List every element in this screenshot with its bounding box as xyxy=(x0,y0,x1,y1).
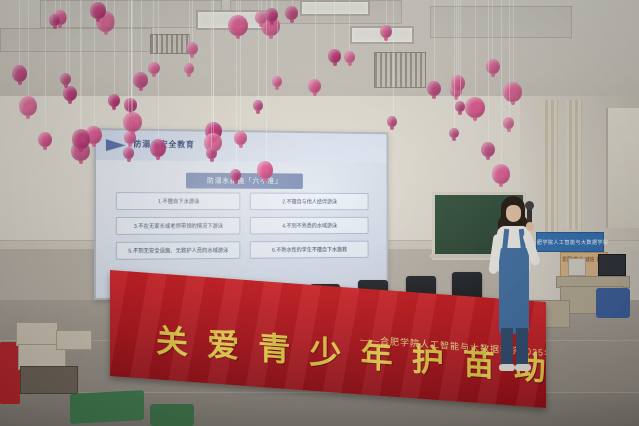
leg-left xyxy=(501,328,513,368)
balloon xyxy=(186,42,198,55)
monitor xyxy=(598,254,626,276)
balloon-string xyxy=(292,0,293,6)
balloon xyxy=(184,63,194,74)
balloon xyxy=(230,169,241,181)
balloon xyxy=(492,164,510,184)
balloon-string xyxy=(393,0,394,116)
microphone-head xyxy=(525,201,534,210)
balloon xyxy=(455,101,465,112)
balloon xyxy=(150,139,166,157)
green-chair xyxy=(70,390,144,424)
balloon-string xyxy=(69,0,70,86)
balloon xyxy=(49,14,60,26)
balloon-string xyxy=(45,0,46,132)
window xyxy=(606,108,639,228)
balloon xyxy=(328,49,341,63)
ceiling-vent xyxy=(374,52,426,88)
leg-right xyxy=(516,328,528,368)
balloon-string xyxy=(315,0,316,79)
balloon xyxy=(257,161,273,179)
balloon-string xyxy=(492,0,493,59)
balloon xyxy=(148,62,160,74)
balloon-string xyxy=(192,0,193,42)
wall-banner: 合肥学院人工智能与大数据学院 xyxy=(536,232,604,252)
slide-item: 3.不在无家长或老师带领的情况下游泳 xyxy=(116,217,241,235)
balloon xyxy=(228,15,248,36)
balloon-string xyxy=(28,0,29,96)
balloon xyxy=(38,132,52,147)
balloon-string xyxy=(141,0,142,72)
balloon-string xyxy=(55,0,56,14)
balloon xyxy=(90,2,106,19)
balloon-string xyxy=(98,0,99,2)
slide-item: 2.不擅自与他人结伴游泳 xyxy=(250,193,369,211)
shoe-left xyxy=(499,364,515,371)
box xyxy=(16,322,58,346)
ceiling-light xyxy=(300,0,370,16)
slide-item: 6.不熟水性的学生不擅自下水施救 xyxy=(250,241,369,259)
shoe-right xyxy=(515,364,531,371)
balloon xyxy=(12,65,27,82)
balloon-string xyxy=(456,0,457,84)
balloon xyxy=(19,96,37,116)
balloon xyxy=(63,86,77,101)
green-chair xyxy=(150,404,194,426)
balloon xyxy=(387,116,397,127)
slide-item-grid: 1.不擅自下水游泳 2.不擅自与他人结伴游泳 3.不在无家长或老师带领的情况下游… xyxy=(116,192,369,260)
slide-item: 4.不到不熟悉的水域游泳 xyxy=(250,217,369,235)
balloon-string xyxy=(509,0,510,117)
balloon xyxy=(253,100,263,111)
photo-scene: 防溺水安全教育 防溺水措施「六不准」 1.不擅自下水游泳 2.不擅自与他人结伴游… xyxy=(0,0,639,426)
balloon-string xyxy=(106,0,107,11)
overalls xyxy=(499,248,529,334)
balloon xyxy=(265,8,278,22)
balloon-string xyxy=(94,0,95,126)
balloon xyxy=(285,6,298,20)
slide-item: 5.不到无安全设施、无救护人员的水域游泳 xyxy=(116,241,241,260)
balloon xyxy=(108,94,120,107)
balloon xyxy=(503,82,522,102)
balloon xyxy=(133,72,148,88)
slide-item: 1.不擅自下水游泳 xyxy=(116,192,241,210)
balloon xyxy=(449,128,459,138)
balloon-string xyxy=(458,0,459,75)
balloon-string xyxy=(60,0,61,10)
hand xyxy=(526,222,534,231)
box-stack xyxy=(0,316,96,396)
balloon-string xyxy=(238,0,239,15)
balloon xyxy=(123,147,134,159)
balloon-string xyxy=(213,0,214,133)
balloon-string xyxy=(153,0,154,62)
balloon-string xyxy=(434,0,435,81)
balloon xyxy=(503,117,514,129)
balloon-string xyxy=(386,0,387,25)
balloon-string xyxy=(66,0,67,73)
balloon-string xyxy=(334,0,335,49)
balloon-string xyxy=(211,0,212,147)
balloon xyxy=(380,25,392,38)
balloon xyxy=(344,51,355,63)
speaker xyxy=(489,196,541,372)
balloon-string xyxy=(513,0,514,82)
balloon-string xyxy=(349,0,350,51)
slide-subtitle: 防溺水措施「六不准」 xyxy=(186,173,303,189)
balloon-string xyxy=(261,0,262,11)
balloon-string xyxy=(81,0,82,129)
balloon xyxy=(72,129,90,149)
ceiling-vent xyxy=(150,34,190,54)
balloon xyxy=(272,76,282,87)
balloon xyxy=(481,142,495,157)
face xyxy=(506,205,521,222)
ceiling-panel xyxy=(0,28,152,52)
balloon-string xyxy=(266,0,267,161)
balloon-string xyxy=(501,0,502,164)
balloon-string xyxy=(114,0,115,94)
balloon xyxy=(60,73,71,85)
curtain xyxy=(566,100,582,230)
curtain xyxy=(542,100,558,250)
box xyxy=(56,330,92,350)
balloon-string xyxy=(475,0,476,97)
dark-box xyxy=(20,366,78,394)
balloon-string xyxy=(19,0,20,65)
balloon xyxy=(465,97,485,118)
balloon xyxy=(308,79,321,93)
balloon xyxy=(123,112,142,132)
balloon-string xyxy=(132,0,133,112)
wall-banner-text: 合肥学院人工智能与大数据学院 xyxy=(537,233,603,251)
balloon-string xyxy=(488,0,489,142)
balloon xyxy=(206,147,217,159)
balloon xyxy=(427,81,441,96)
balloon-string xyxy=(272,0,273,8)
pc-box xyxy=(568,258,586,276)
balloon-string xyxy=(460,0,461,101)
balloon xyxy=(234,131,247,145)
office-chair xyxy=(596,288,630,318)
